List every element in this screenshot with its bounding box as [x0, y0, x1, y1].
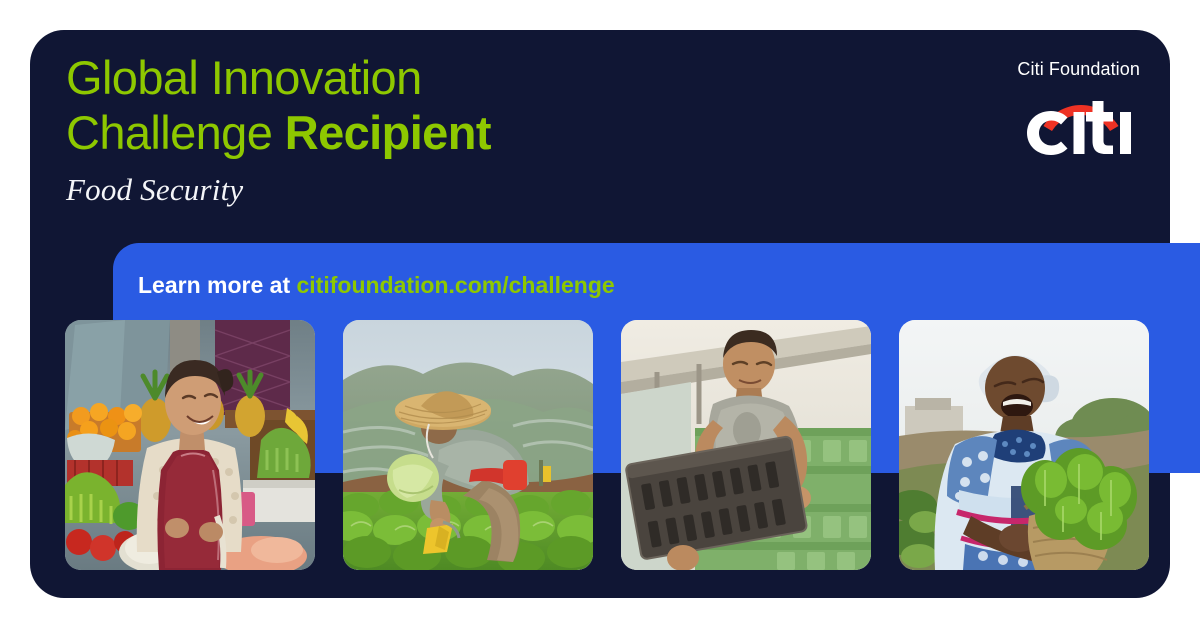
promo-graphic: Global Innovation Challenge Recipient Fo…	[0, 0, 1200, 628]
banner-url-link[interactable]: citifoundation.com/challenge	[297, 272, 615, 298]
photo-market-vendor-woman	[65, 320, 315, 570]
page-title: Global Innovation Challenge Recipient	[66, 50, 766, 160]
citi-logo-icon	[1022, 94, 1140, 156]
headline-line-1: Global Innovation	[66, 51, 422, 104]
foundation-name: Citi Foundation	[950, 58, 1140, 80]
brand-lockup: Citi Foundation	[950, 58, 1140, 161]
headline-block: Global Innovation Challenge Recipient Fo…	[66, 50, 766, 208]
banner-lead-text: Learn more at	[138, 272, 297, 298]
headline-line-2-bold: Recipient	[285, 106, 491, 159]
photo-worker-stacking-crates	[621, 320, 871, 570]
banner-text: Learn more at citifoundation.com/challen…	[138, 271, 615, 299]
photo-strip	[65, 320, 1135, 570]
photo-woman-with-greens-basket	[899, 320, 1149, 570]
photo-farmer-harvesting-cabbage	[343, 320, 593, 570]
headline-subtitle: Food Security	[66, 172, 766, 208]
headline-line-2-regular: Challenge	[66, 106, 285, 159]
